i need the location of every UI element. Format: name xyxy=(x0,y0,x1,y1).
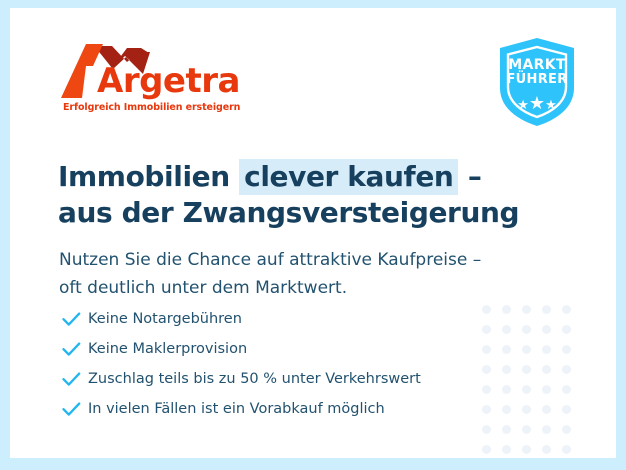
decorative-dot xyxy=(522,325,531,334)
headline-line-2: aus der Zwangsversteigerung xyxy=(58,196,519,229)
decorative-dot xyxy=(542,385,551,394)
headline-part-2: – xyxy=(458,160,481,193)
decorative-dot xyxy=(562,445,571,454)
decorative-dot xyxy=(522,305,531,314)
decorative-dot xyxy=(562,405,571,414)
decorative-dot xyxy=(522,345,531,354)
decorative-dot xyxy=(562,305,571,314)
decorative-dot-grid xyxy=(482,305,582,458)
decorative-dot xyxy=(562,325,571,334)
subtitle-line-1: Nutzen Sie die Chance auf attraktive Kau… xyxy=(59,250,481,270)
decorative-dot xyxy=(482,325,491,334)
promo-banner: Argetra Erfolgreich Immobilien ersteiger… xyxy=(0,0,626,470)
check-icon xyxy=(62,372,88,387)
list-item-label: Keine Maklerprovision xyxy=(88,341,247,357)
page-subtitle: Nutzen Sie die Chance auf attraktive Kau… xyxy=(59,247,481,302)
list-item: In vielen Fällen ist ein Vorabkauf mögli… xyxy=(62,394,421,424)
decorative-dot xyxy=(502,385,511,394)
feature-list: Keine NotargebührenKeine Maklerprovision… xyxy=(62,304,421,424)
argetra-logo: Argetra Erfolgreich Immobilien ersteiger… xyxy=(55,40,255,120)
argetra-tagline: Erfolgreich Immobilien ersteigern xyxy=(63,102,240,113)
decorative-dot xyxy=(522,445,531,454)
decorative-dot xyxy=(482,445,491,454)
decorative-dot xyxy=(542,305,551,314)
shield-icon xyxy=(496,36,578,128)
list-item-label: Keine Notargebühren xyxy=(88,311,242,327)
decorative-dot xyxy=(522,365,531,374)
decorative-dot xyxy=(502,445,511,454)
check-icon xyxy=(62,312,88,327)
list-item-label: In vielen Fällen ist ein Vorabkauf mögli… xyxy=(88,401,385,417)
decorative-dot xyxy=(482,425,491,434)
market-leader-badge: MARKT FÜHRER ★★★ xyxy=(496,36,578,128)
decorative-dot xyxy=(482,405,491,414)
page-title: Immobilien clever kaufen – aus der Zwang… xyxy=(58,159,519,232)
decorative-dot xyxy=(542,365,551,374)
check-icon xyxy=(62,342,88,357)
decorative-dot xyxy=(502,365,511,374)
argetra-wordmark: Argetra xyxy=(97,64,240,98)
headline-highlight: clever kaufen xyxy=(239,159,458,195)
banner-canvas: Argetra Erfolgreich Immobilien ersteiger… xyxy=(10,8,616,458)
decorative-dot xyxy=(542,425,551,434)
list-item-label: Zuschlag teils bis zu 50 % unter Verkehr… xyxy=(88,371,421,387)
decorative-dot xyxy=(542,325,551,334)
decorative-dot xyxy=(482,305,491,314)
headline-part-1: Immobilien xyxy=(58,160,239,193)
decorative-dot xyxy=(562,365,571,374)
list-item: Zuschlag teils bis zu 50 % unter Verkehr… xyxy=(62,364,421,394)
decorative-dot xyxy=(542,445,551,454)
decorative-dot xyxy=(482,365,491,374)
decorative-dot xyxy=(502,325,511,334)
decorative-dot xyxy=(502,425,511,434)
decorative-dot xyxy=(542,345,551,354)
decorative-dot xyxy=(502,345,511,354)
decorative-dot xyxy=(562,385,571,394)
decorative-dot xyxy=(522,385,531,394)
decorative-dot xyxy=(522,425,531,434)
decorative-dot xyxy=(562,425,571,434)
check-icon xyxy=(62,402,88,417)
list-item: Keine Notargebühren xyxy=(62,304,421,334)
decorative-dot xyxy=(502,305,511,314)
list-item: Keine Maklerprovision xyxy=(62,334,421,364)
decorative-dot xyxy=(502,405,511,414)
decorative-dot xyxy=(482,385,491,394)
decorative-dot xyxy=(482,345,491,354)
subtitle-line-2: oft deutlich unter dem Marktwert. xyxy=(59,278,347,298)
decorative-dot xyxy=(542,405,551,414)
decorative-dot xyxy=(562,345,571,354)
decorative-dot xyxy=(522,405,531,414)
